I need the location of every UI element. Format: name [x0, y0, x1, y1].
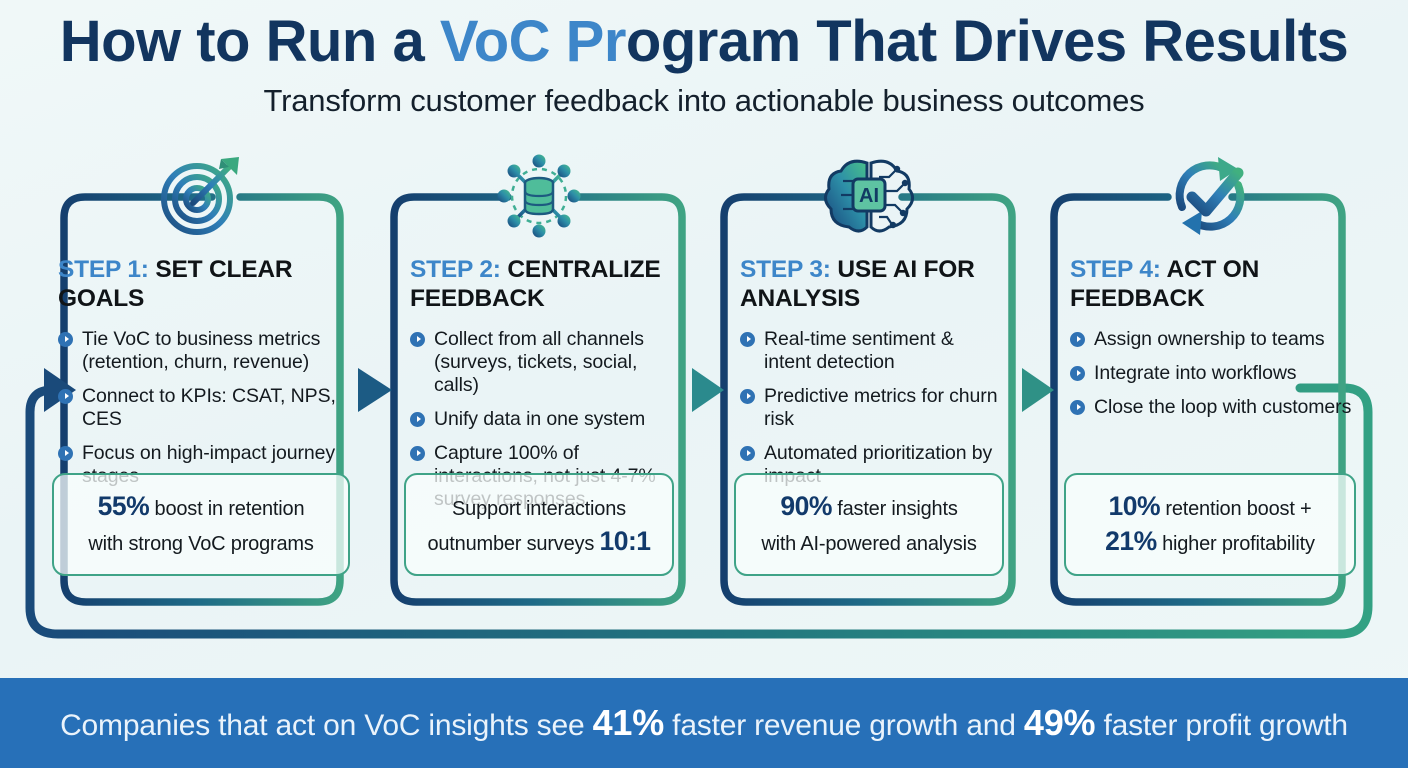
- step-card-3-body: STEP 3: USE AI FOR ANALYSIS Real-time se…: [710, 256, 1028, 499]
- bullet-text: Close the loop with customers: [1094, 396, 1351, 418]
- list-item: Real-time sentiment & intent detection: [740, 328, 1000, 374]
- bottom-stat-banner: Companies that act on VoC insights see 4…: [0, 678, 1408, 768]
- chevron-bullet-icon: [58, 446, 73, 461]
- stat-text: faster insights: [832, 498, 958, 520]
- step-3-bullets: Real-time sentiment & intent detection P…: [740, 328, 1000, 488]
- bullet-text: Unify data in one system: [434, 408, 645, 430]
- step-4-heading: STEP 4: ACT ON FEEDBACK: [1070, 256, 1352, 314]
- step-card-3: AI STEP 3: USE AI FOR ANALYSIS Real-time…: [710, 150, 1028, 620]
- step-1-label: STEP 1:: [58, 256, 149, 283]
- step-card-1: STEP 1: SET CLEAR GOALS Tie VoC to busin…: [28, 150, 374, 620]
- step-3-stat-box: 90% faster insightswith AI-powered analy…: [734, 473, 1004, 576]
- stat-text: retention boost +: [1160, 498, 1312, 520]
- bullet-text: Real-time sentiment & intent detection: [764, 328, 954, 373]
- list-item: Unify data in one system: [410, 408, 670, 431]
- banner-stat-1: 41%: [593, 702, 664, 743]
- chevron-bullet-icon: [740, 446, 755, 461]
- stat-text: boost in retention: [149, 498, 304, 520]
- stat-text-2: outnumber surveys: [427, 533, 599, 555]
- step-3-heading: STEP 3: USE AI FOR ANALYSIS: [740, 256, 1000, 314]
- chevron-bullet-icon: [740, 332, 755, 347]
- stat-text-2: with strong VoC programs: [88, 533, 313, 555]
- target-arrow-icon: [150, 150, 252, 242]
- step-4-label: STEP 4:: [1070, 256, 1161, 283]
- chevron-bullet-icon: [58, 389, 73, 404]
- list-item: Assign ownership to teams: [1070, 328, 1352, 351]
- banner-segment-2: faster revenue growth and: [664, 709, 1024, 742]
- step-3-label: STEP 3:: [740, 256, 831, 283]
- infographic-root: How to Run a VoC Program That Drives Res…: [0, 0, 1408, 768]
- stat-text-2: with AI-powered analysis: [761, 533, 976, 555]
- step-2-label: STEP 2:: [410, 256, 501, 283]
- chevron-bullet-icon: [58, 332, 73, 347]
- step-1-stat-box: 55% boost in retentionwith strong VoC pr…: [52, 473, 350, 576]
- stat-number: 55%: [98, 491, 150, 521]
- step-card-1-body: STEP 1: SET CLEAR GOALS Tie VoC to busin…: [28, 256, 374, 499]
- stat-number-2: 10:1: [600, 526, 651, 556]
- step-4-bullets: Assign ownership to teams Integrate into…: [1070, 328, 1352, 419]
- step-1-heading: STEP 1: SET CLEAR GOALS: [58, 256, 346, 314]
- chevron-bullet-icon: [740, 389, 755, 404]
- stat-number: 10%: [1108, 491, 1160, 521]
- refresh-checkmark-icon: [1159, 150, 1261, 242]
- chevron-bullet-icon: [1070, 366, 1085, 381]
- database-network-icon: [488, 150, 590, 242]
- bullet-text: Integrate into workflows: [1094, 362, 1296, 384]
- bullet-text: Tie VoC to business metrics (retention, …: [82, 328, 320, 373]
- bullet-text: Connect to KPIs: CSAT, NPS, CES: [82, 385, 336, 430]
- bullet-text: Assign ownership to teams: [1094, 328, 1325, 350]
- steps-container: STEP 1: SET CLEAR GOALS Tie VoC to busin…: [0, 0, 1408, 768]
- stat-text-3: higher profitability: [1157, 533, 1315, 555]
- svg-text:AI: AI: [859, 185, 879, 207]
- bullet-text: Collect from all channels (surveys, tick…: [434, 328, 644, 396]
- stat-number-2: 21%: [1105, 526, 1157, 556]
- banner-segment-3: faster profit growth: [1095, 709, 1348, 742]
- chevron-bullet-icon: [410, 412, 425, 427]
- step-2-heading: STEP 2: CENTRALIZE FEEDBACK: [410, 256, 670, 314]
- step-card-2: STEP 2: CENTRALIZE FEEDBACK Collect from…: [380, 150, 698, 620]
- stat-text: Support interactions: [452, 498, 626, 520]
- banner-segment-1: Companies that act on VoC insights see: [60, 709, 593, 742]
- list-item: Predictive metrics for churn risk: [740, 385, 1000, 431]
- list-item: Tie VoC to business metrics (retention, …: [58, 328, 346, 374]
- step-card-4: STEP 4: ACT ON FEEDBACK Assign ownership…: [1040, 150, 1380, 620]
- bullet-text: Predictive metrics for churn risk: [764, 385, 997, 430]
- stat-number: 90%: [780, 491, 832, 521]
- step-2-stat-box: Support interactionsoutnumber surveys 10…: [404, 473, 674, 576]
- banner-text: Companies that act on VoC insights see 4…: [60, 702, 1348, 744]
- chevron-bullet-icon: [1070, 400, 1085, 415]
- step-1-bullets: Tie VoC to business metrics (retention, …: [58, 328, 346, 488]
- step-card-4-body: STEP 4: ACT ON FEEDBACK Assign ownership…: [1040, 256, 1380, 430]
- chevron-bullet-icon: [410, 332, 425, 347]
- chevron-bullet-icon: [410, 446, 425, 461]
- list-item: Close the loop with customers: [1070, 396, 1352, 419]
- ai-brain-chip-icon: AI: [818, 150, 920, 242]
- list-item: Collect from all channels (surveys, tick…: [410, 328, 670, 397]
- banner-stat-2: 49%: [1024, 702, 1095, 743]
- step-4-stat-box: 10% retention boost +21% higher profitab…: [1064, 473, 1356, 576]
- list-item: Integrate into workflows: [1070, 362, 1352, 385]
- chevron-bullet-icon: [1070, 332, 1085, 347]
- list-item: Connect to KPIs: CSAT, NPS, CES: [58, 385, 346, 431]
